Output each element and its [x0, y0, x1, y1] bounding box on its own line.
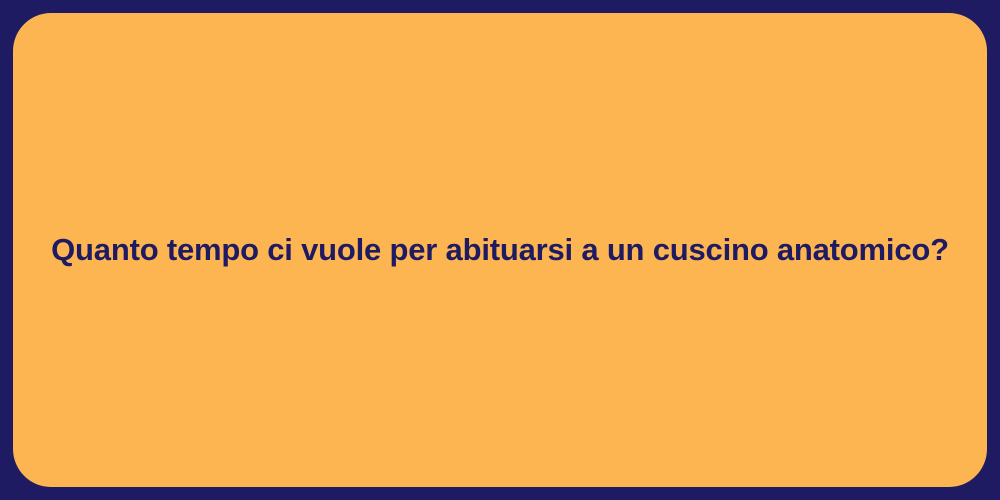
banner-headline: Quanto tempo ci vuole per abituarsi a un… [51, 231, 949, 270]
question-banner: Quanto tempo ci vuole per abituarsi a un… [0, 0, 1000, 500]
banner-panel: Quanto tempo ci vuole per abituarsi a un… [13, 13, 987, 487]
